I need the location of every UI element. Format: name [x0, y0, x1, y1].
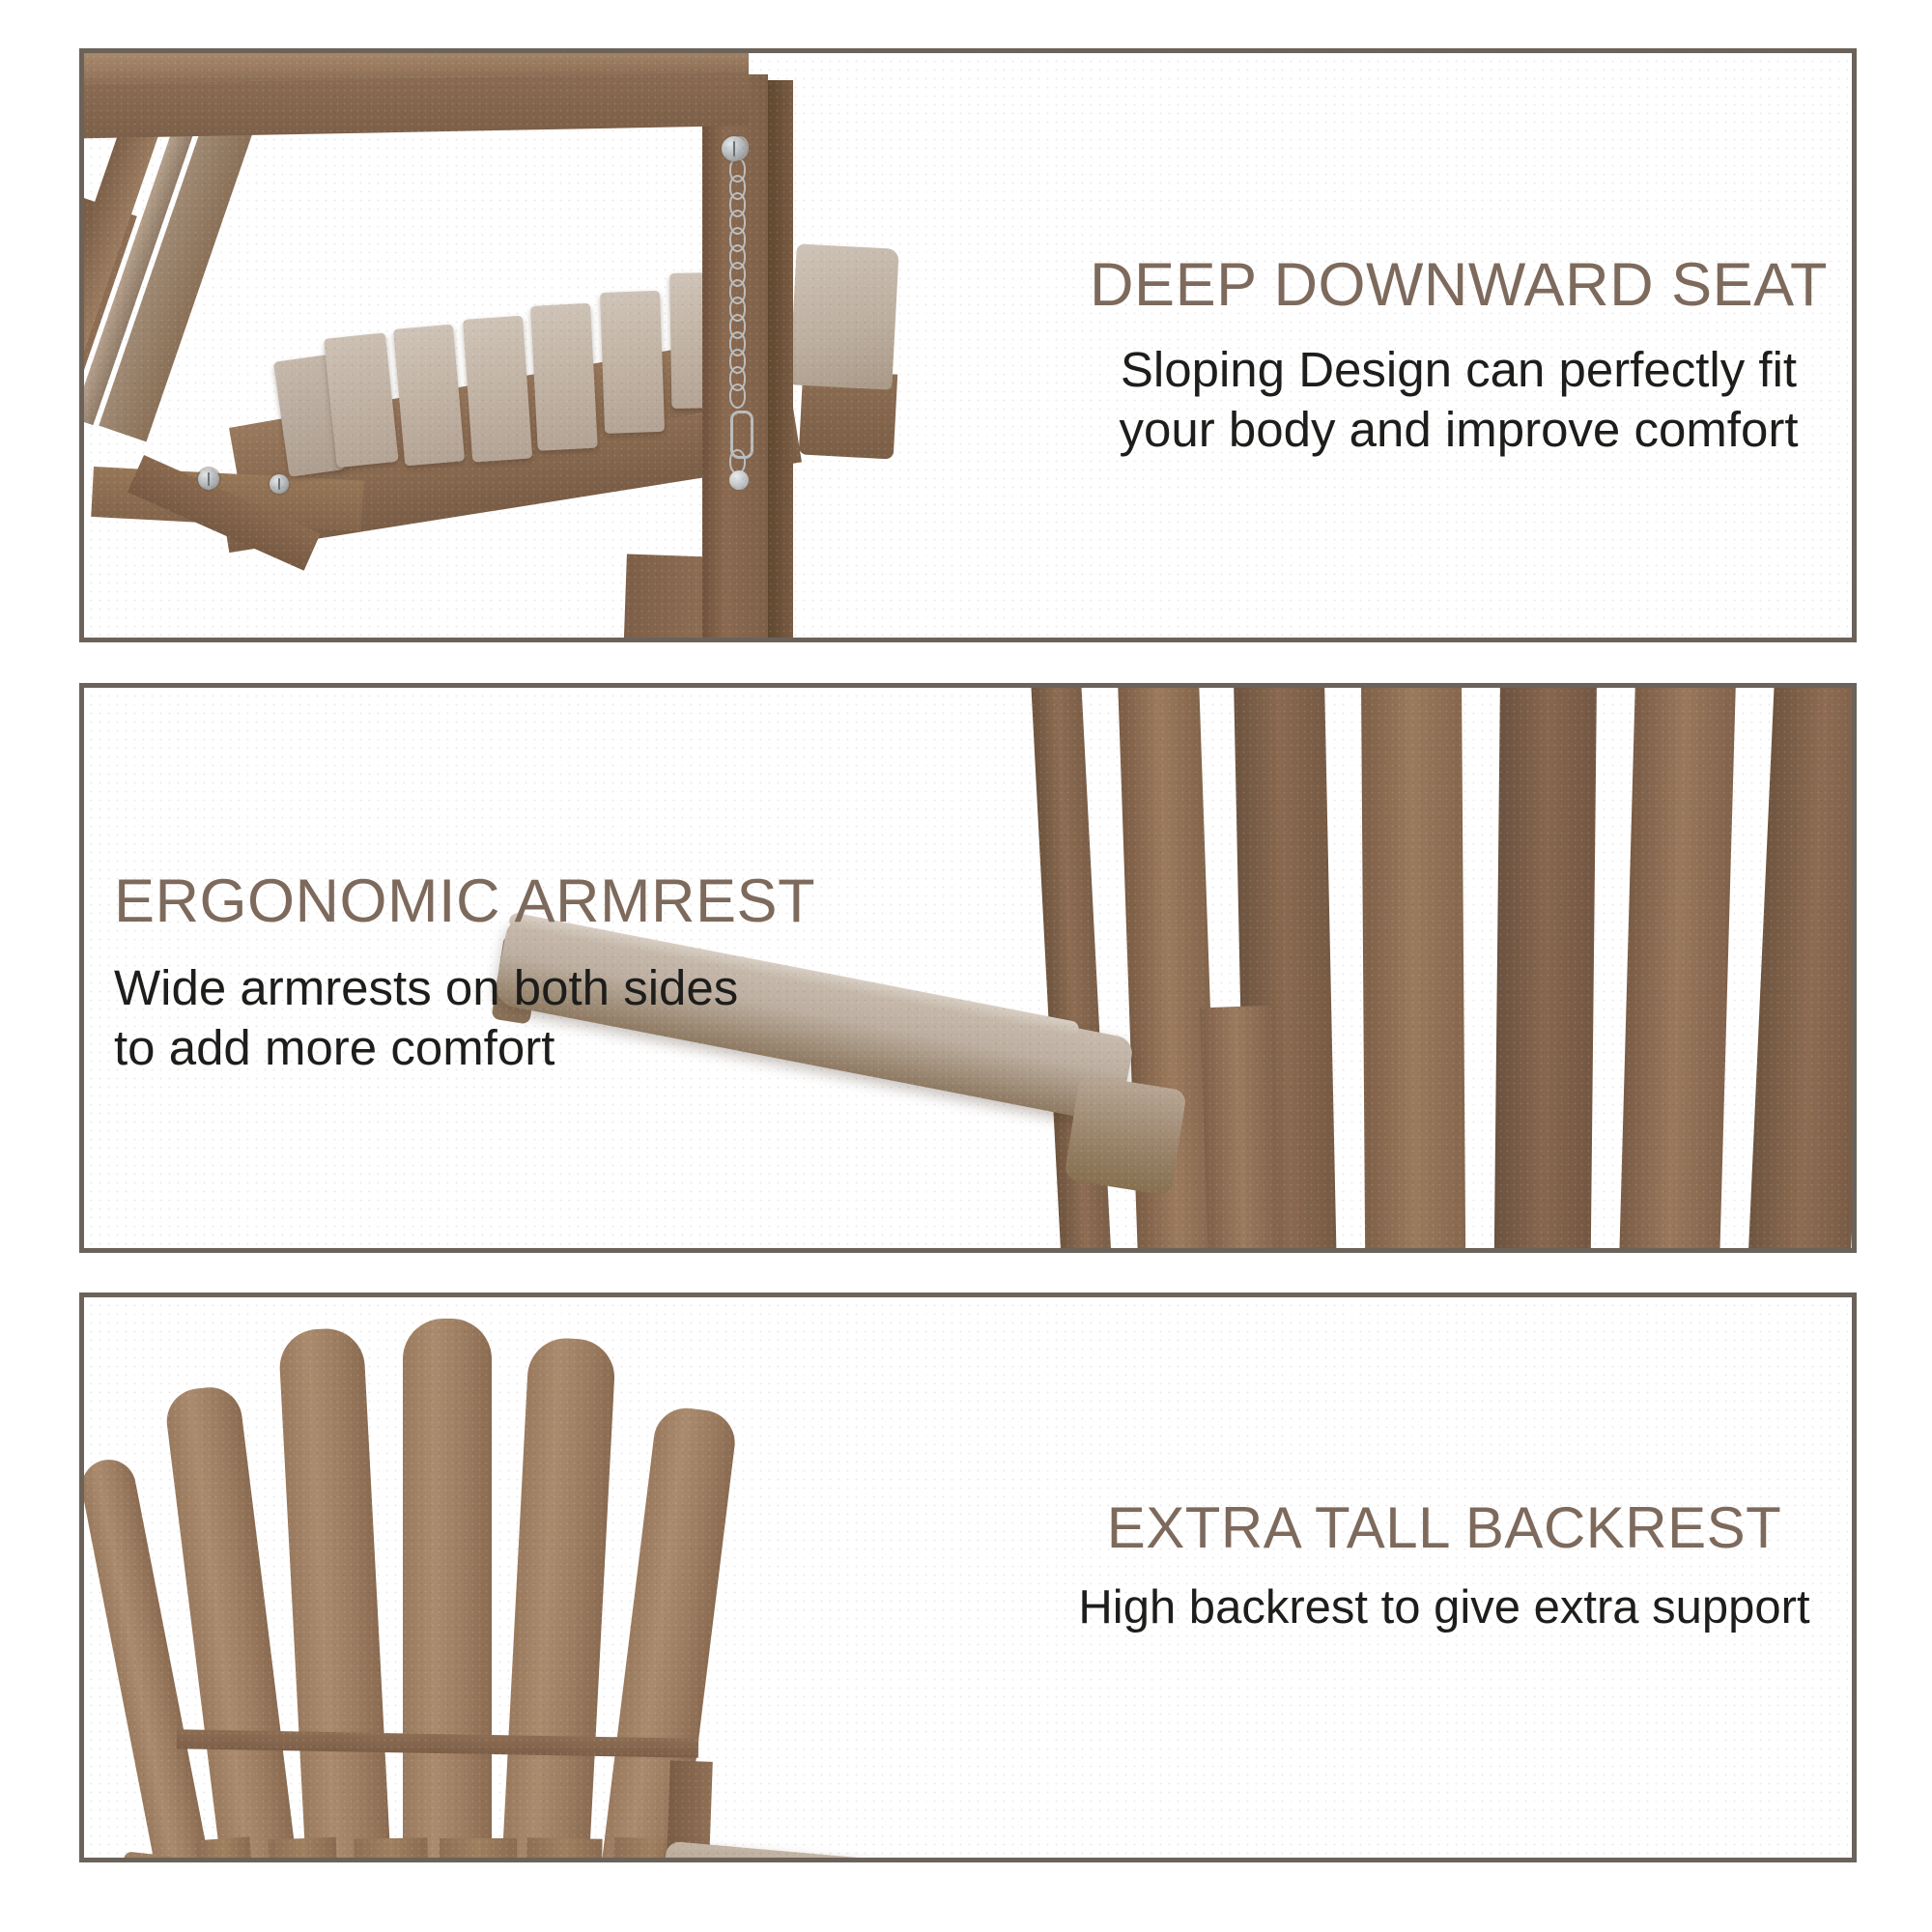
screw-icon	[198, 469, 219, 490]
seat-slat	[600, 291, 665, 434]
feature-text-ergonomic-armrest: ERGONOMIC ARMREST Wide armrests on both …	[114, 869, 848, 1079]
panel-2-body: Wide armrests on both sides to add more …	[114, 958, 848, 1078]
chain-ball-end	[729, 470, 749, 490]
folding-chain	[729, 152, 743, 470]
panel-1-body-line: Sloping Design can perfectly fit	[1072, 340, 1845, 400]
backrest-slat-lower	[522, 1837, 602, 1858]
seat-slat	[393, 325, 465, 467]
backrest-slat-lower	[440, 1838, 517, 1858]
panel-3-heading: EXTRA TALL BACKREST	[1058, 1497, 1831, 1558]
backrest-slat	[1747, 688, 1852, 1248]
seat-slat	[324, 332, 399, 468]
seat-slat	[463, 316, 532, 463]
feature-text-extra-tall-backrest: EXTRA TALL BACKREST High backrest to giv…	[1058, 1497, 1831, 1637]
backrest-slat	[594, 1405, 738, 1858]
panel-1-body-line: your body and improve comfort	[1072, 400, 1845, 460]
panel-3-body: High backrest to give extra support	[1058, 1579, 1831, 1637]
backrest-slat-lower	[269, 1837, 346, 1858]
backrest-slat	[1361, 688, 1465, 1248]
armrest-right	[662, 1841, 1052, 1858]
chair-post	[768, 80, 793, 638]
backrest-slat	[403, 1319, 492, 1858]
backrest-slat-lower	[354, 1837, 432, 1858]
backrest-slat	[1618, 688, 1736, 1248]
backrest-slat	[1493, 688, 1597, 1248]
backrest-slat	[278, 1327, 393, 1858]
chair-leg	[623, 554, 710, 638]
armrest-end	[789, 243, 898, 389]
armrest-front-tip	[1064, 1074, 1187, 1196]
panel-1-heading: DEEP DOWNWARD SEAT	[1072, 253, 1845, 317]
panel-2-heading: ERGONOMIC ARMREST	[114, 869, 848, 933]
panel-2-body-line: Wide armrests on both sides	[114, 958, 848, 1018]
armrest-support-post	[1200, 1006, 1281, 1248]
backrest-slat	[499, 1336, 616, 1858]
panel-1-body: Sloping Design can perfectly fit your bo…	[1072, 340, 1845, 460]
screw-icon	[722, 136, 747, 161]
screw-icon	[270, 474, 289, 494]
feature-text-deep-downward-seat: DEEP DOWNWARD SEAT Sloping Design can pe…	[1072, 253, 1845, 461]
seat-slat	[530, 303, 598, 451]
panel-3-body-line: High backrest to give extra support	[1058, 1579, 1831, 1637]
product-feature-infographic: DEEP DOWNWARD SEAT Sloping Design can pe…	[0, 0, 1932, 1932]
panel-2-body-line: to add more comfort	[114, 1018, 848, 1078]
